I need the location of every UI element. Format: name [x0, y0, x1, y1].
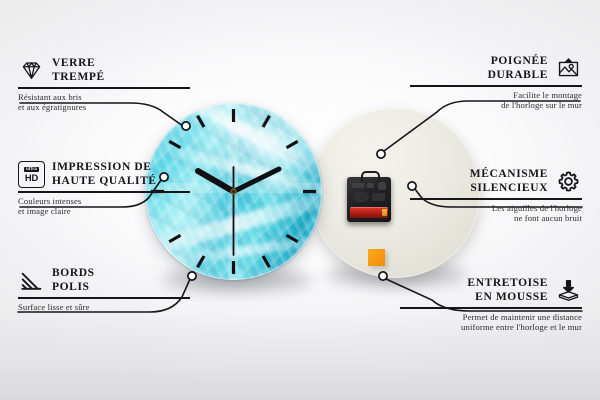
feature-divider — [18, 297, 190, 299]
feature-title-line1: VERRE — [52, 57, 95, 69]
picture-hanger-icon — [555, 55, 582, 82]
feature-description: Surface lisse et sûre — [18, 302, 190, 312]
feature-title-line1: MÉCANISME — [470, 168, 548, 180]
feature-divider — [18, 87, 190, 89]
feature-desc-line2: uniforme entre l'horloge et le mur — [461, 322, 582, 332]
feature-title: MÉCANISME SILENCIEUX — [470, 168, 548, 195]
feature-title-line2: TREMPÉ — [52, 71, 105, 83]
feature-description: Permet de maintenir une distance uniform… — [400, 312, 582, 333]
feature-entretoise-en-mousse: ENTRETOISE EN MOUSSE Permet de maintenir… — [400, 277, 582, 332]
feature-header: POIGNÉE DURABLE — [410, 55, 582, 82]
foam-spacer-sample — [368, 249, 385, 266]
gear-icon — [555, 168, 582, 195]
feature-description: Les aiguilles de l'horloge ne font aucun… — [410, 203, 582, 224]
feature-header: ENTRETOISE EN MOUSSE — [400, 277, 582, 304]
feature-description: Résistant aux bris et aux égratignures — [18, 92, 190, 113]
feature-header: BORDS POLIS — [18, 267, 190, 294]
feature-header: ultra HD IMPRESSION DE HAUTE QUALITÉ — [18, 161, 190, 188]
feature-title: VERRE TREMPÉ — [52, 57, 105, 84]
feature-title: POIGNÉE DURABLE — [488, 55, 548, 82]
feature-title-line1: ENTRETOISE — [467, 277, 548, 289]
feature-header: MÉCANISME SILENCIEUX — [410, 168, 582, 195]
mechanism-detail — [372, 193, 385, 201]
feature-desc-line1: Couleurs intenses — [18, 196, 81, 206]
diamond-icon — [18, 57, 45, 84]
ultra-hd-icon: ultra HD — [18, 161, 45, 188]
feature-description: Facilite le montage de l'horloge sur le … — [410, 90, 582, 111]
feature-title-line2: EN MOUSSE — [475, 291, 548, 303]
feature-divider — [400, 307, 582, 309]
mechanism-detail — [378, 182, 386, 190]
ultra-hd-box: ultra HD — [18, 161, 45, 188]
feature-title-line1: IMPRESSION DE — [52, 161, 152, 173]
feature-divider — [410, 198, 582, 200]
polished-edges-icon — [18, 267, 45, 294]
feature-title-line2: HAUTE QUALITÉ — [52, 175, 157, 187]
feature-desc-line1: Surface lisse et sûre — [18, 302, 90, 312]
feature-title-line2: DURABLE — [488, 69, 548, 81]
feature-desc-line1: Les aiguilles de l'horloge — [492, 203, 582, 213]
foam-spacer-icon — [555, 277, 582, 304]
feature-title: IMPRESSION DE HAUTE QUALITÉ — [52, 161, 157, 188]
feature-divider — [18, 191, 190, 193]
feature-desc-line2: et image claire — [18, 206, 71, 216]
feature-title: ENTRETOISE EN MOUSSE — [467, 277, 548, 304]
feature-description: Couleurs intenses et image claire — [18, 196, 190, 217]
mechanism-detail — [352, 183, 364, 188]
clock-battery — [350, 207, 388, 218]
battery-positive-tip — [382, 209, 387, 216]
feature-title-line2: POLIS — [52, 281, 90, 293]
feature-title: BORDS POLIS — [52, 267, 95, 294]
feature-header: VERRE TREMPÉ — [18, 57, 190, 84]
feature-desc-line2: et aux égratignures — [18, 102, 86, 112]
feature-title-line1: POIGNÉE — [491, 55, 548, 67]
feature-title-line1: BORDS — [52, 267, 95, 279]
feature-verre-trempe: VERRE TREMPÉ Résistant aux bris et aux é… — [18, 57, 190, 112]
mechanism-detail — [353, 192, 369, 202]
feature-desc-line1: Résistant aux bris — [18, 92, 82, 102]
clock-mechanism — [347, 177, 391, 222]
feature-desc-line1: Facilite le montage — [513, 90, 582, 100]
mechanism-detail — [367, 183, 374, 188]
feature-desc-line2: ne font aucun bruit — [514, 213, 582, 223]
feature-bords-polis: BORDS POLIS Surface lisse et sûre — [18, 267, 190, 312]
feature-desc-line1: Permet de maintenir une distance — [463, 312, 582, 322]
feature-impression-haute-qualite: ultra HD IMPRESSION DE HAUTE QUALITÉ Cou… — [18, 161, 190, 216]
infographic-canvas: VERRE TREMPÉ Résistant aux bris et aux é… — [0, 0, 600, 400]
hd-label: HD — [25, 173, 38, 182]
feature-poignee-durable: POIGNÉE DURABLE Facilite le montage de l… — [410, 55, 582, 110]
feature-desc-line2: de l'horloge sur le mur — [501, 100, 582, 110]
mechanism-hanger-icon — [361, 171, 380, 182]
feature-mecanisme-silencieux: MÉCANISME SILENCIEUX Les aiguilles de l'… — [410, 168, 582, 223]
feature-title-line2: SILENCIEUX — [470, 182, 548, 194]
feature-divider — [410, 85, 582, 87]
